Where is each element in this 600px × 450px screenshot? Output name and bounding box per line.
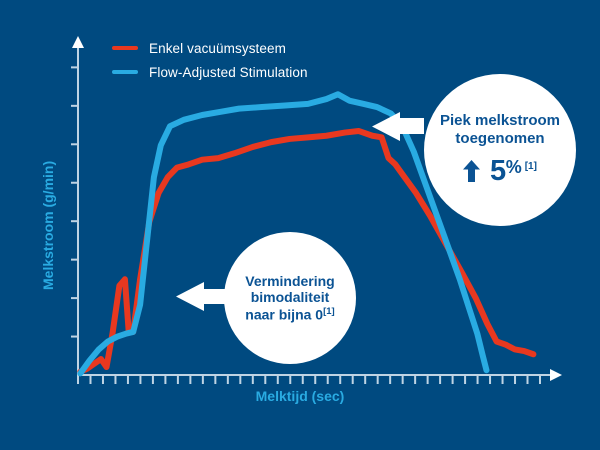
up-arrow-icon (463, 160, 480, 182)
pointer-arrow-peak (372, 112, 424, 141)
pointer-arrow-bimodal (176, 282, 228, 311)
callout-peak-stat: 5 % [1] (463, 155, 537, 188)
callout-bimodality: Vermindering bimodaliteit naar bijna 0[1… (224, 232, 356, 364)
callout-bimodal-reference: [1] (323, 306, 335, 317)
callout-peak-reference: [1] (525, 161, 537, 172)
callout-peak-title: Piek melkstroom toegenomen (440, 112, 560, 147)
callout-peak-milkflow: Piek melkstroom toegenomen 5 % [1] (424, 74, 576, 226)
chart-canvas: Enkel vacuümsysteem Flow-Adjusted Stimul… (0, 0, 600, 450)
callout-bimodal-title-text: Vermindering bimodaliteit naar bijna 0 (245, 273, 334, 323)
callout-bimodal-title: Vermindering bimodaliteit naar bijna 0[1… (245, 273, 334, 323)
callout-peak-unit: % (506, 157, 522, 178)
callout-peak-value: 5 (490, 155, 506, 188)
